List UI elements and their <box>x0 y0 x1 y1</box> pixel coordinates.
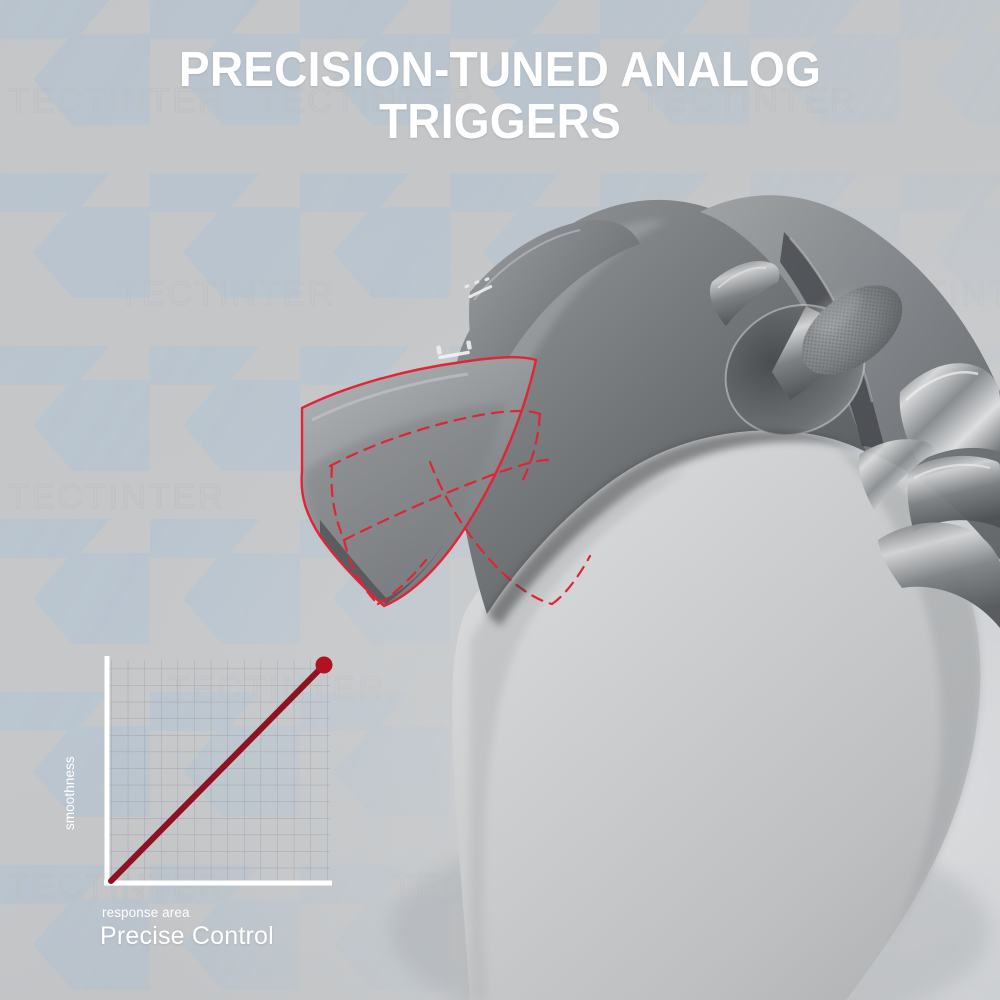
chart-endpoint-marker <box>316 657 333 674</box>
product-banner: TECTINTER TECTINTER TECTINTER TECTINTER … <box>0 0 1000 1000</box>
chart-title: Precise Control <box>100 922 274 951</box>
chart-x-axis-label: response area <box>102 905 190 920</box>
chart-y-axis-label: smoothness <box>62 756 77 830</box>
